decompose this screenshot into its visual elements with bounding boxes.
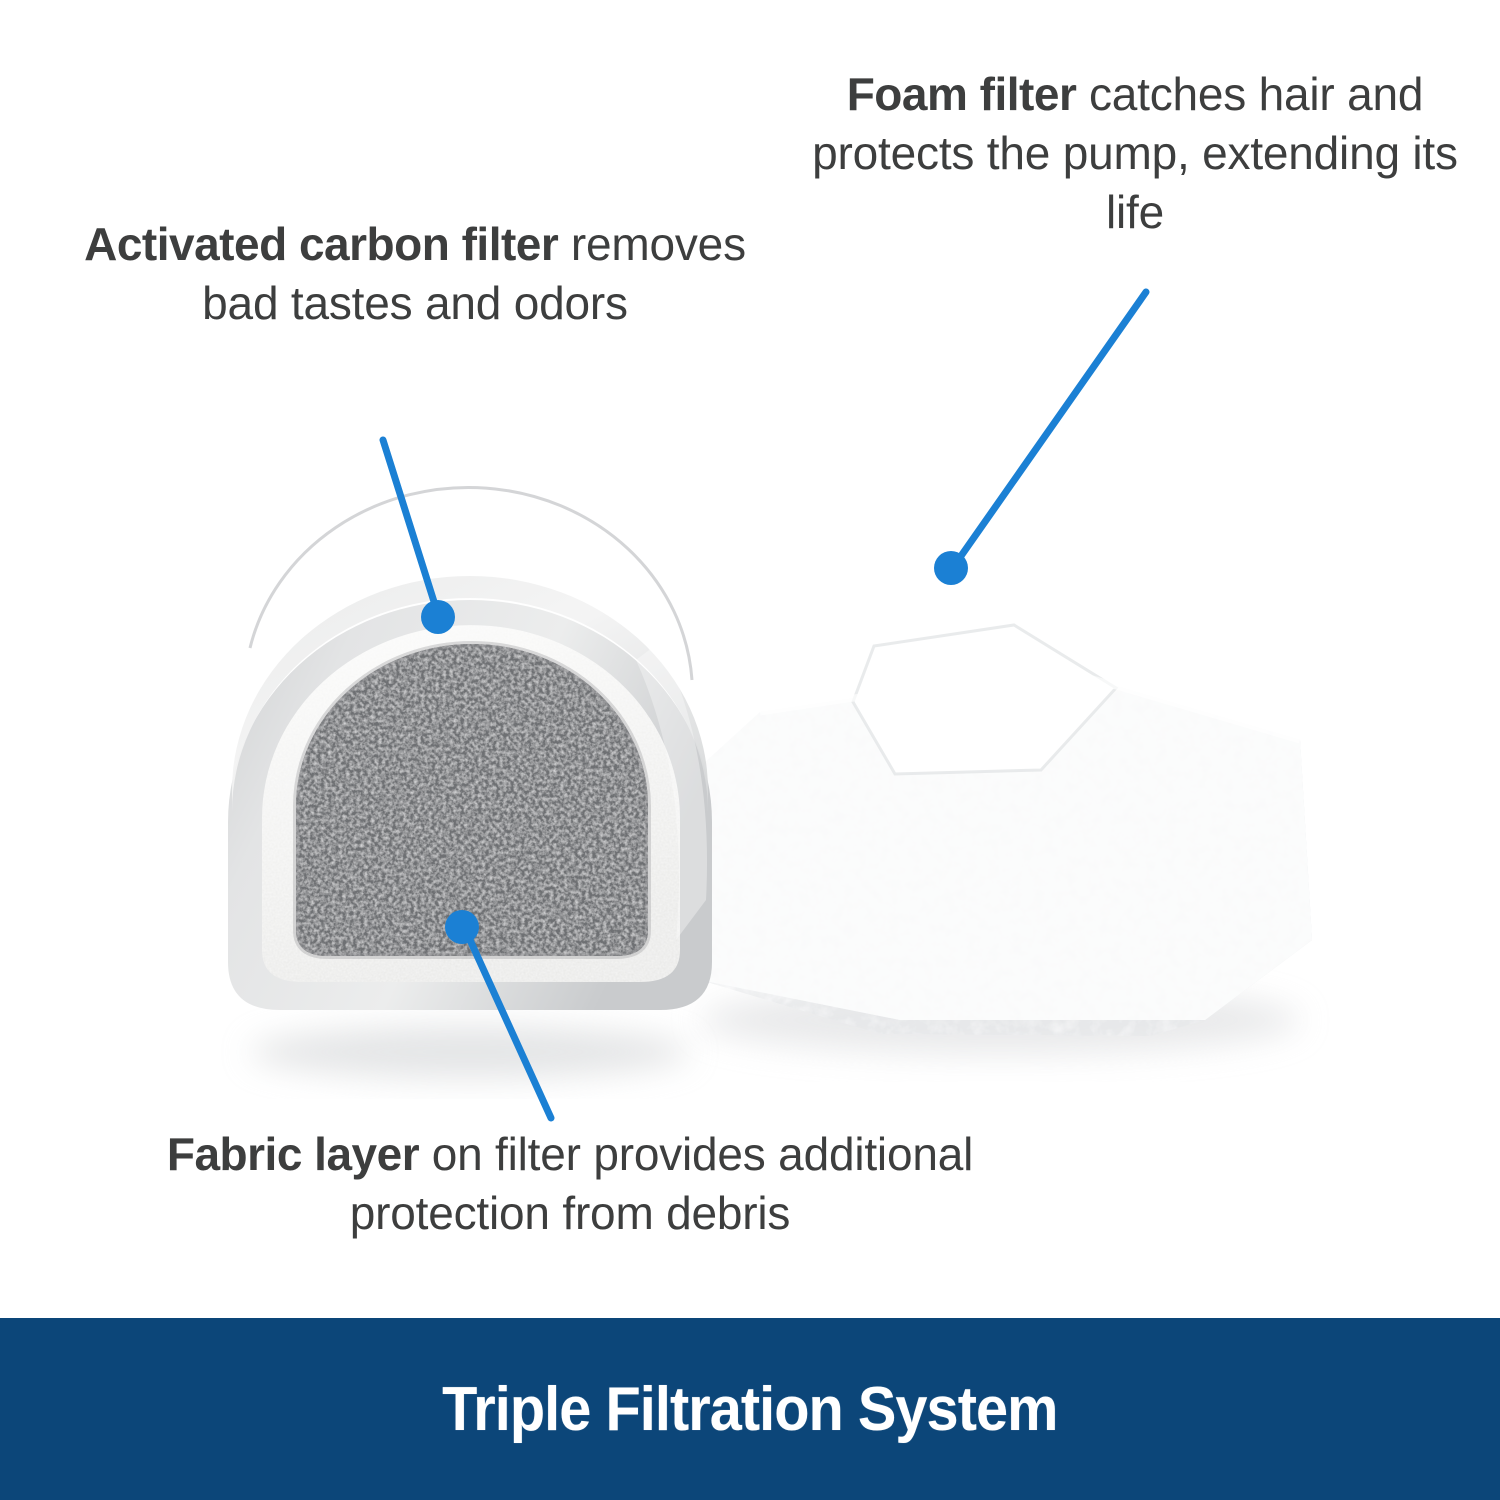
callout-foam-filter: Foam filter catches hair and protects th… xyxy=(790,65,1480,242)
callout-activated-carbon-filter: Activated carbon filter removes bad tast… xyxy=(55,215,775,333)
callout-fabric-bold: Fabric layer xyxy=(167,1128,419,1180)
infographic-canvas: Activated carbon filter removes bad tast… xyxy=(0,0,1500,1500)
product-photo xyxy=(0,380,1500,1140)
bottom-banner: Triple Filtration System xyxy=(0,1318,1500,1500)
banner-title: Triple Filtration System xyxy=(442,1374,1057,1445)
foam-filter-graphic xyxy=(620,622,1312,1054)
callout-fabric-layer: Fabric layer on filter provides addition… xyxy=(105,1125,1035,1243)
callout-fabric-rest: on filter provides additional protection… xyxy=(350,1128,973,1239)
carbon-filter-graphic xyxy=(228,487,712,1078)
callout-carbon-bold: Activated carbon filter xyxy=(84,218,558,270)
callout-foam-bold: Foam filter xyxy=(847,68,1077,120)
